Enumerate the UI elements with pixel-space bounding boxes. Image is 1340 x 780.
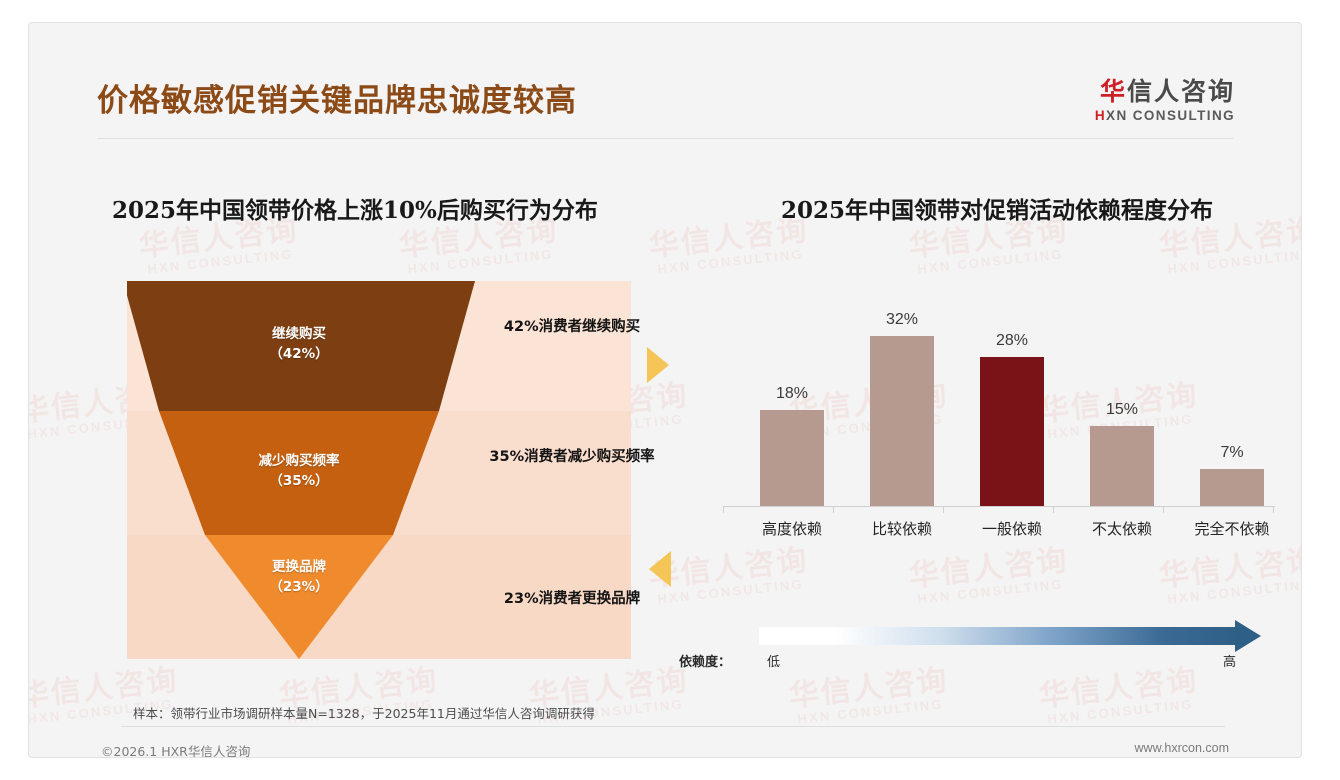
- bar-value-label: 32%: [886, 311, 918, 329]
- company-logo: 华信人咨询 HXN CONSULTING: [1095, 79, 1235, 123]
- funnel-segment-name: 减少购买频率: [259, 453, 340, 469]
- watermark-english: HXN CONSULTING: [917, 246, 1072, 277]
- slide-header: 价格敏感促销关键品牌忠诚度较高 华信人咨询 HXN CONSULTING: [29, 23, 1301, 133]
- logo-chinese-accent: 华: [1100, 77, 1127, 106]
- dependency-bar-chart: 18%高度依赖32%比较依赖28%一般依赖15%不太依赖7%完全不依赖: [715, 273, 1275, 593]
- logo-chinese-rest: 信人咨询: [1127, 77, 1235, 106]
- bar-column[interactable]: 15%: [1067, 401, 1177, 506]
- x-axis-tick: [1273, 506, 1274, 513]
- funnel-segment-description: 23%消费者更换品牌: [477, 587, 667, 612]
- footer-copyright: ©2026.1 HXR华信人咨询: [101, 741, 250, 758]
- scale-low-label: 低: [767, 651, 780, 670]
- funnel-segment-name: 继续购买: [272, 326, 326, 342]
- logo-english-accent: H: [1095, 108, 1106, 123]
- play-triangle-right-icon: [647, 347, 669, 383]
- bar-column[interactable]: 28%: [957, 332, 1067, 506]
- scale-gradient-bar: [759, 627, 1239, 645]
- bar-category-label: 不太依赖: [1067, 518, 1177, 539]
- left-panel-heading: 2025年中国领带价格上涨10%后购买行为分布: [112, 191, 598, 225]
- x-axis-tick: [1163, 506, 1164, 513]
- bar-value-label: 18%: [776, 385, 808, 403]
- bar[interactable]: [1090, 426, 1154, 506]
- logo-english-rest: XN CONSULTING: [1106, 108, 1235, 123]
- dependency-scale: 依赖度： 低 高: [715, 621, 1275, 677]
- scale-high-label: 高: [1223, 651, 1236, 670]
- slide-canvas: 华信人咨询HXN CONSULTING华信人咨询HXN CONSULTING华信…: [28, 22, 1302, 758]
- funnel-segment-percent: （23%）: [269, 579, 328, 595]
- footer-divider: [121, 726, 1225, 727]
- watermark-english: HXN CONSULTING: [1167, 246, 1301, 277]
- bar[interactable]: [980, 357, 1044, 506]
- play-triangle-left-icon: [649, 551, 671, 587]
- bar-category-label: 高度依赖: [737, 518, 847, 539]
- funnel-row[interactable]: 更换品牌（23%）23%消费者更换品牌: [127, 535, 631, 659]
- funnel-chart: 继续购买（42%）42%消费者继续购买减少购买频率（35%）35%消费者减少购买…: [127, 281, 631, 659]
- funnel-row[interactable]: 继续购买（42%）42%消费者继续购买: [127, 281, 631, 411]
- scale-arrow-head-icon: [1235, 620, 1261, 652]
- scale-label: 依赖度：: [679, 651, 731, 670]
- funnel-segment-label: 更换品牌（23%）: [209, 557, 389, 598]
- source-note: 样本：领带行业市场调研样本量N=1328，于2025年11月通过华信人咨询调研获…: [133, 703, 595, 722]
- funnel-segment-percent: （42%）: [269, 346, 328, 362]
- bar-category-label: 完全不依赖: [1177, 518, 1287, 539]
- funnel-segment-description: 35%消费者减少购买频率: [477, 445, 667, 470]
- bar-column[interactable]: 32%: [847, 311, 957, 506]
- bar[interactable]: [870, 336, 934, 506]
- x-axis-tick: [833, 506, 834, 513]
- bar-value-label: 28%: [996, 332, 1028, 350]
- bar[interactable]: [760, 410, 824, 506]
- bar-category-label: 一般依赖: [957, 518, 1067, 539]
- funnel-segment-label: 继续购买（42%）: [209, 324, 389, 365]
- bar-column[interactable]: 18%: [737, 385, 847, 506]
- footer-website[interactable]: www.hxrcon.com: [1135, 741, 1229, 755]
- watermark-english: HXN CONSULTING: [147, 246, 302, 277]
- watermark-english: HXN CONSULTING: [407, 246, 562, 277]
- watermark-english: HXN CONSULTING: [657, 246, 812, 277]
- watermark-english: HXN CONSULTING: [797, 696, 952, 727]
- funnel-segment-label: 减少购买频率（35%）: [209, 451, 389, 492]
- bar-chart-plot: 18%高度依赖32%比较依赖28%一般依赖15%不太依赖7%完全不依赖: [715, 273, 1275, 551]
- x-axis-tick: [723, 506, 724, 513]
- logo-chinese: 华信人咨询: [1095, 79, 1235, 105]
- x-axis-line: [723, 506, 1275, 507]
- page-title: 价格敏感促销关键品牌忠诚度较高: [97, 75, 577, 120]
- funnel-segment-percent: （35%）: [269, 473, 328, 489]
- bar-value-label: 15%: [1106, 401, 1138, 419]
- x-axis-tick: [943, 506, 944, 513]
- watermark-english: HXN CONSULTING: [1047, 696, 1202, 727]
- logo-english: HXN CONSULTING: [1095, 108, 1235, 123]
- bar-column[interactable]: 7%: [1177, 444, 1287, 506]
- funnel-segment-description: 42%消费者继续购买: [477, 315, 667, 340]
- bar-category-label: 比较依赖: [847, 518, 957, 539]
- right-panel-heading: 2025年中国领带对促销活动依赖程度分布: [781, 191, 1213, 225]
- bar-value-label: 7%: [1220, 444, 1243, 462]
- x-axis-tick: [1053, 506, 1054, 513]
- title-divider: [97, 138, 1233, 139]
- bar[interactable]: [1200, 469, 1264, 506]
- funnel-segment-name: 更换品牌: [272, 559, 326, 575]
- funnel-row[interactable]: 减少购买频率（35%）35%消费者减少购买频率: [127, 411, 631, 535]
